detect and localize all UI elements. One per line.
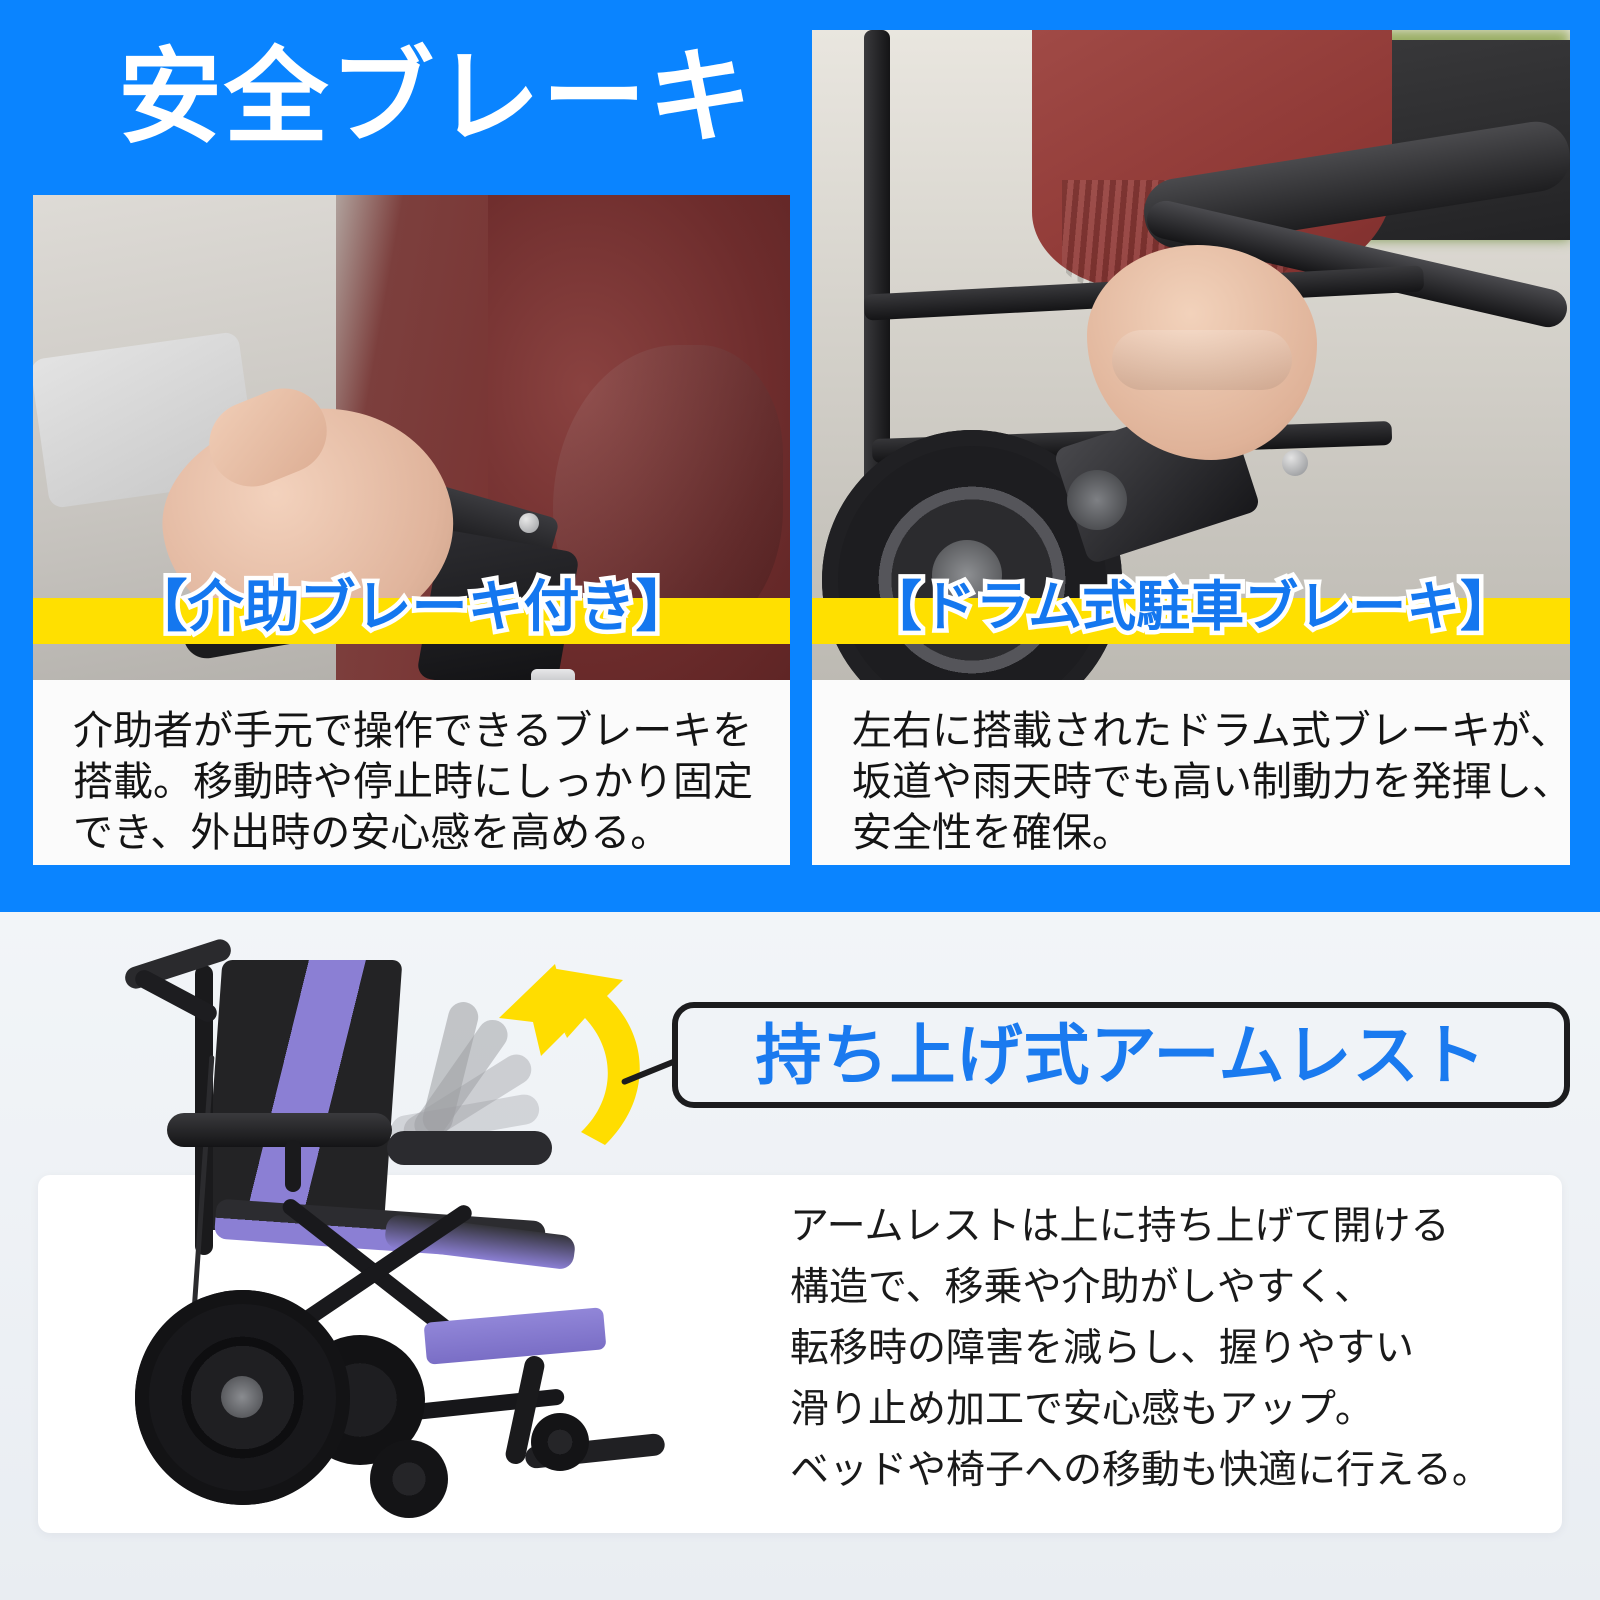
description-line: 坂道や雨天時でも高い制動力を発揮し、	[852, 757, 1542, 808]
description-line: 安全性を確保。	[852, 808, 1542, 859]
caption-overlay-right: 【ドラム式駐車ブレーキ】	[812, 555, 1570, 680]
caption-attendant-brake: 【介助ブレーキ付き】	[33, 578, 790, 636]
caption-drum-brake: 【ドラム式駐車ブレーキ】	[812, 578, 1570, 636]
description-line: 構造で、移乗や介助がしやすく、	[790, 1257, 1550, 1318]
feature-card-attendant-brake: 【介助ブレーキ付き】	[33, 195, 790, 680]
safety-brake-section: 安全ブレーキ 【介助ブレーキ付き】	[0, 0, 1600, 912]
page-title: 安全ブレーキ	[118, 42, 754, 154]
caption-overlay-left: 【介助ブレーキ付き】	[33, 555, 790, 680]
feature-card-drum-brake: 【ドラム式駐車ブレーキ】	[812, 30, 1570, 680]
description-line: アームレストは上に持ち上げて開ける	[790, 1196, 1550, 1257]
description-attendant-brake: 介助者が手元で操作できるブレーキを 搭載。移動時や停止時にしっかり固定 でき、外…	[33, 680, 790, 865]
description-drum-brake: 左右に搭載されたドラム式ブレーキが、 坂道や雨天時でも高い制動力を発揮し、 安全…	[812, 680, 1570, 865]
armrest-heading-label: 持ち上げ式アームレスト	[755, 1020, 1486, 1090]
description-line: 転移時の障害を減らし、握りやすい	[790, 1318, 1550, 1379]
rotation-arrow-icon	[455, 960, 655, 1160]
armrest-heading-box: 持ち上げ式アームレスト	[672, 1002, 1570, 1108]
armrest-description: アームレストは上に持ち上げて開ける 構造で、移乗や介助がしやすく、 転移時の障害…	[790, 1196, 1550, 1501]
infographic-page: 安全ブレーキ 【介助ブレーキ付き】	[0, 0, 1600, 1600]
description-line: 滑り止め加工で安心感もアップ。	[790, 1379, 1550, 1440]
description-line: 搭載。移動時や停止時にしっかり固定	[73, 757, 762, 808]
description-line: 介助者が手元で操作できるブレーキを	[73, 706, 762, 757]
description-line: でき、外出時の安心感を高める。	[73, 808, 762, 859]
description-line: 左右に搭載されたドラム式ブレーキが、	[852, 706, 1542, 757]
description-line: ベッドや椅子への移動も快適に行える。	[790, 1440, 1550, 1501]
